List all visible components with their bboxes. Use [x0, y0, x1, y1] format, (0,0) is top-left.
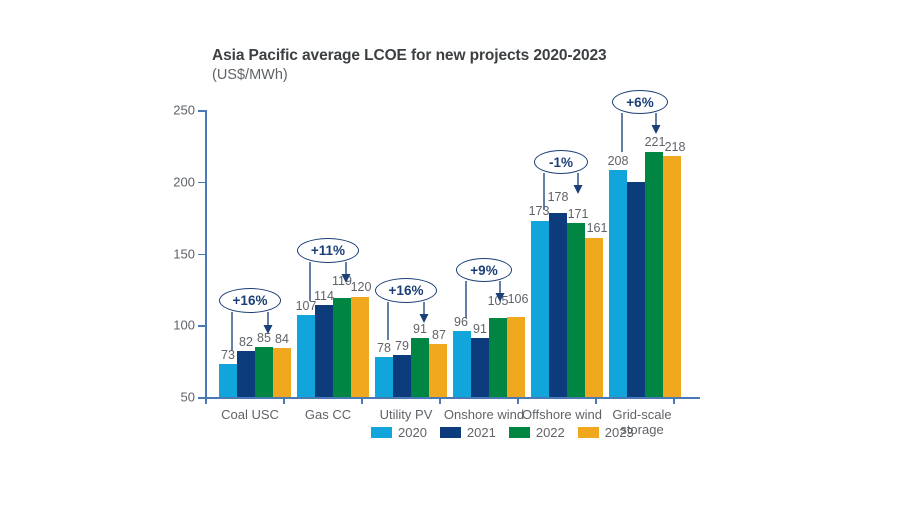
legend-item-2023[interactable]: 2023: [578, 425, 634, 440]
chart-container: Asia Pacific average LCOE for new projec…: [0, 0, 900, 506]
legend-swatch-2022: [509, 427, 530, 438]
legend-label-2022: 2022: [536, 425, 565, 440]
legend-label-2023: 2023: [605, 425, 634, 440]
legend-swatch-2021: [440, 427, 461, 438]
legend-item-2020[interactable]: 2020: [371, 425, 427, 440]
legend-label-2020: 2020: [398, 425, 427, 440]
annotation-badge-storage: +6%: [612, 90, 668, 114]
legend-item-2021[interactable]: 2021: [440, 425, 496, 440]
legend-label-2021: 2021: [467, 425, 496, 440]
legend-swatch-2023: [578, 427, 599, 438]
legend: 2020 2021 2022 2023: [371, 425, 634, 440]
legend-item-2022[interactable]: 2022: [509, 425, 565, 440]
legend-swatch-2020: [371, 427, 392, 438]
